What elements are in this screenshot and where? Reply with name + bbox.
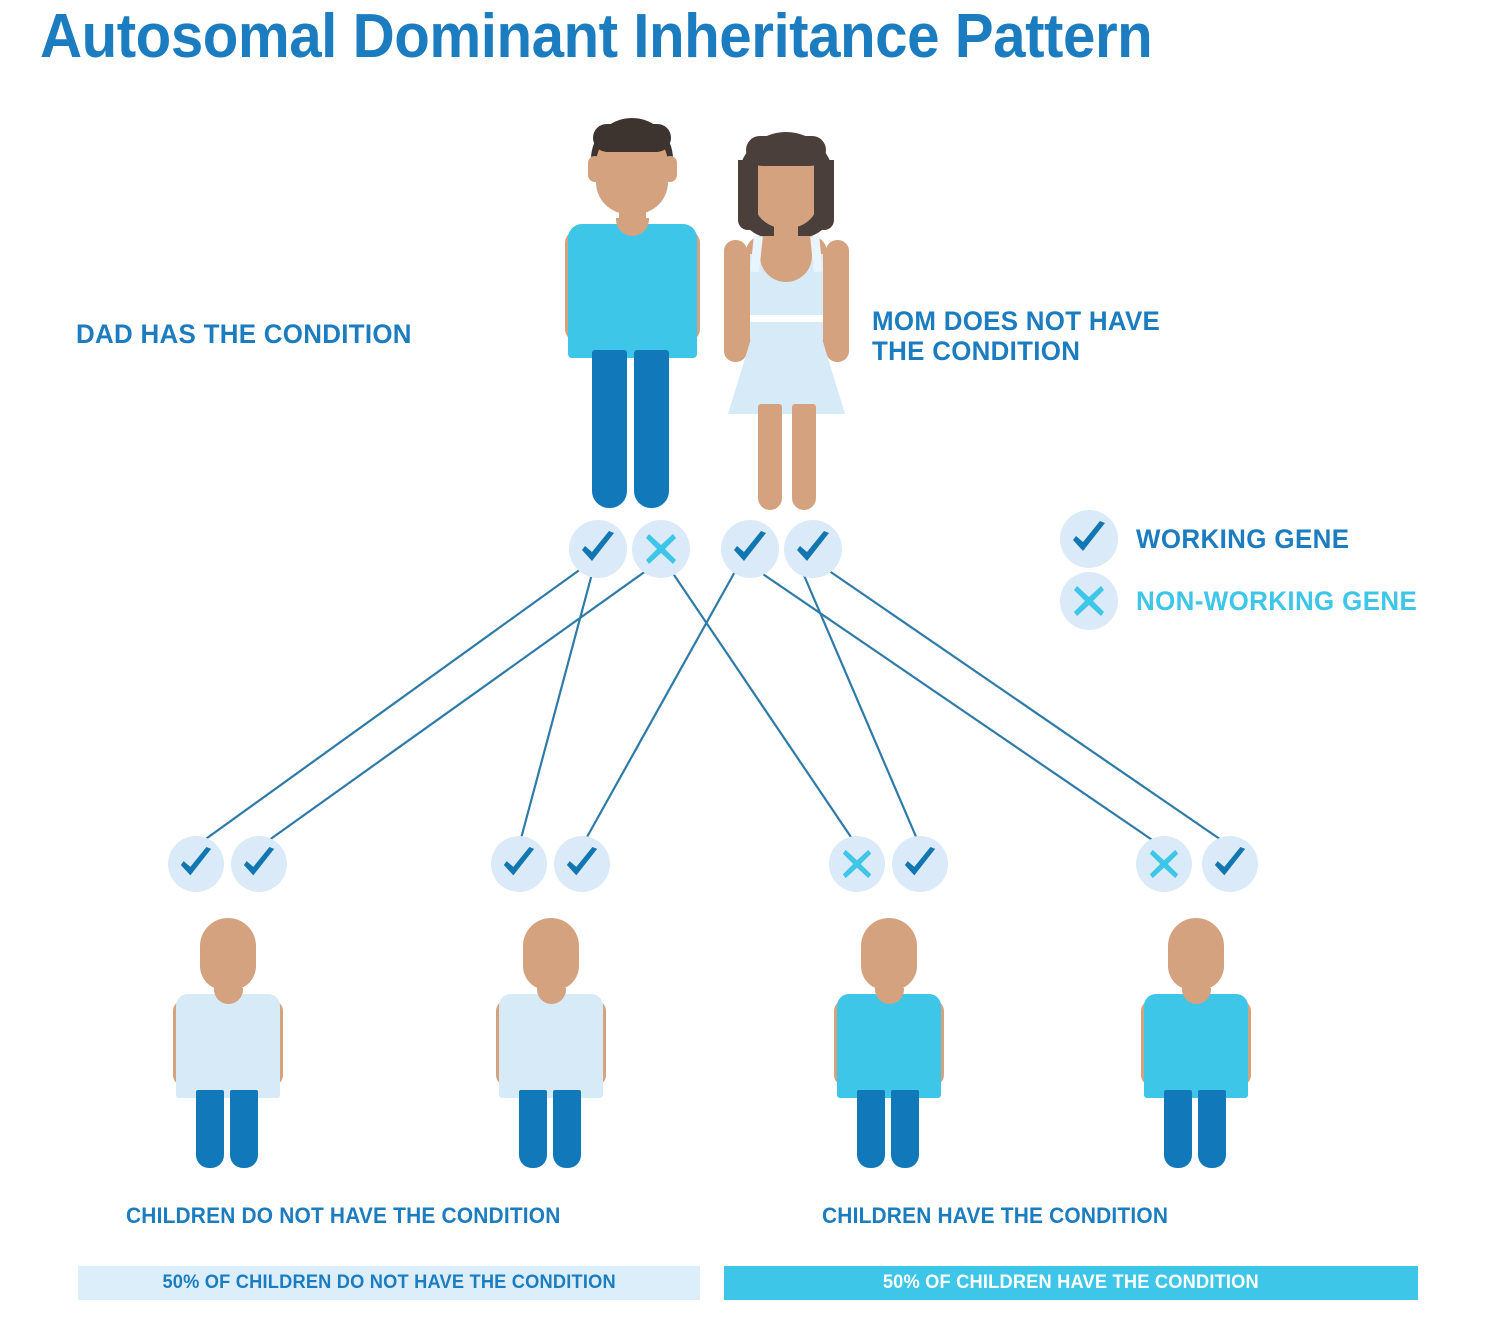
dad-shirt-body <box>588 268 677 358</box>
legend: WORKING GENE NON-WORKING GENE <box>1060 508 1429 632</box>
child-1-leg-right <box>230 1090 258 1168</box>
dad-label: DAD HAS THE CONDITION <box>76 319 527 349</box>
child-3-figure <box>829 918 947 1168</box>
child-4-leg-right <box>1198 1090 1226 1168</box>
child-3-leg-left <box>857 1090 885 1168</box>
child-4-shirt <box>1144 994 1248 1098</box>
child-4-gene-1-cross[interactable] <box>1136 836 1192 892</box>
child-2-gene-1-check[interactable] <box>491 836 547 892</box>
caption-children-unaffected: CHILDREN DO NOT HAVE THE CONDITION <box>126 1203 561 1229</box>
child-4-leg-left <box>1164 1090 1192 1168</box>
parent-gene-3-check[interactable] <box>721 520 779 578</box>
dad-figure <box>560 118 705 508</box>
dad-leg-right <box>634 350 669 508</box>
child-4-gene-2-check[interactable] <box>1202 836 1258 892</box>
child-2-leg-left <box>519 1090 547 1168</box>
child-2-gene-2-check[interactable] <box>554 836 610 892</box>
mom-figure <box>722 132 852 510</box>
child-1-gene-1-check[interactable] <box>168 836 224 892</box>
child-1-figure <box>168 918 286 1168</box>
mom-dress-waistband <box>750 315 823 322</box>
banner-unaffected-text: 50% OF CHILDREN DO NOT HAVE THE CONDITIO… <box>162 1272 615 1294</box>
dad-hair-fringe <box>593 124 671 152</box>
child-1-shirt <box>176 994 280 1098</box>
check-icon <box>1060 510 1118 568</box>
legend-label-non-working-gene: NON-WORKING GENE <box>1136 586 1417 617</box>
child-1-leg-left <box>196 1090 224 1168</box>
legend-label-working-gene: WORKING GENE <box>1136 524 1349 555</box>
child-1-gene-2-check[interactable] <box>231 836 287 892</box>
banner-affected-percentage: 50% OF CHILDREN HAVE THE CONDITION <box>724 1266 1418 1300</box>
child-3-shirt <box>837 994 941 1098</box>
banner-unaffected-percentage: 50% OF CHILDREN DO NOT HAVE THE CONDITIO… <box>78 1266 700 1300</box>
mom-label: MOM DOES NOT HAVE THE CONDITION <box>872 306 1275 366</box>
child-2-figure <box>491 918 609 1168</box>
child-3-gene-1-cross[interactable] <box>829 836 885 892</box>
child-3-leg-right <box>891 1090 919 1168</box>
banner-affected-text: 50% OF CHILDREN HAVE THE CONDITION <box>883 1272 1259 1294</box>
mom-hair-side-right <box>814 160 834 230</box>
mom-arm-right <box>826 240 849 362</box>
parent-gene-1-check[interactable] <box>569 520 627 578</box>
infographic-canvas: Autosomal Dominant Inheritance Pattern <box>0 0 1500 1331</box>
parent-gene-2-cross[interactable] <box>632 520 690 578</box>
caption-children-affected: CHILDREN HAVE THE CONDITION <box>822 1203 1168 1229</box>
mom-leg-left <box>758 404 782 510</box>
mom-leg-right <box>792 404 816 510</box>
child-2-leg-right <box>553 1090 581 1168</box>
mom-arm-left <box>724 240 747 362</box>
cross-icon <box>1060 572 1118 630</box>
child-4-figure <box>1136 918 1254 1168</box>
child-2-shirt <box>499 994 603 1098</box>
parent-gene-4-check[interactable] <box>784 520 842 578</box>
legend-item-working-gene: WORKING GENE <box>1060 508 1429 570</box>
dad-leg-left <box>592 350 627 508</box>
mom-hair-side-left <box>738 160 758 230</box>
child-3-gene-2-check[interactable] <box>892 836 948 892</box>
legend-item-non-working-gene: NON-WORKING GENE <box>1060 570 1429 632</box>
